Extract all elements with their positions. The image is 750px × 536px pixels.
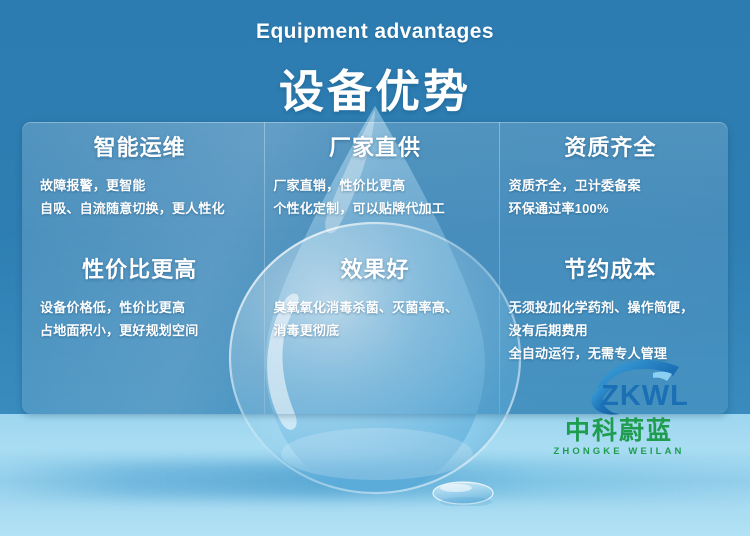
advantage-block-smart-ops: 智能运维 故障报警，更智能 自吸、自流随意切换，更人性化 [22,136,257,220]
company-name-english: ZHONGKE WEILAN [549,445,689,458]
advantage-title: 性价比更高 [38,258,241,282]
advantage-line: 全自动运行，无需专人管理 [509,342,712,365]
advantage-line: 臭氧氧化消毒杀菌、灭菌率高、 [273,296,476,319]
advantage-title: 资质齐全 [509,136,712,160]
advantage-line: 自吸、自流随意切换，更人性化 [40,197,241,220]
advantage-line: 消毒更彻底 [273,319,476,342]
company-name-chinese: 中科蔚蓝 [549,418,689,445]
advantage-block-good-effect: 效果好 臭氧氧化消毒杀菌、灭菌率高、 消毒更彻底 [257,258,492,342]
advantage-line: 无须投加化学药剂、操作简便， [509,296,712,319]
advantage-line: 没有后期费用 [509,319,712,342]
advantage-column-2: 厂家直供 厂家直销，性价比更高 个性化定制，可以贴牌代加工 效果好 臭氧氧化消毒… [257,122,492,414]
advantage-title: 厂家直供 [273,136,476,160]
advantage-block-factory-direct: 厂家直供 厂家直销，性价比更高 个性化定制，可以贴牌代加工 [257,136,492,220]
advantage-title: 智能运维 [38,136,241,160]
advantage-block-qualifications: 资质齐全 资质齐全，卫计委备案 环保通过率100% [493,136,728,220]
advantage-title: 效果好 [273,258,476,282]
advantage-line: 厂家直销，性价比更高 [273,174,476,197]
advantage-line: 占地面积小，更好规划空间 [40,319,241,342]
page-title-chinese: 设备优势 [0,55,750,120]
advantage-column-1: 智能运维 故障报警，更智能 自吸、自流随意切换，更人性化 性价比更高 设备价格低… [22,122,257,414]
company-name-block: 中科蔚蓝 ZHONGKE WEILAN [549,418,689,462]
advantage-line: 资质齐全，卫计委备案 [509,174,712,197]
advantage-line: 故障报警，更智能 [40,174,241,197]
poster-canvas: Equipment advantages 设备优势 智能运维 故障报警，更智能 … [0,0,750,536]
advantage-line: 个性化定制，可以贴牌代加工 [273,197,476,220]
advantages-card: 智能运维 故障报警，更智能 自吸、自流随意切换，更人性化 性价比更高 设备价格低… [22,122,728,414]
advantage-title: 节约成本 [509,258,712,282]
advantage-line: 设备价格低，性价比更高 [40,296,241,319]
advantages-columns: 智能运维 故障报警，更智能 自吸、自流随意切换，更人性化 性价比更高 设备价格低… [22,122,728,414]
page-title-english: Equipment advantages [0,20,750,44]
advantage-column-3: 资质齐全 资质齐全，卫计委备案 环保通过率100% 节约成本 无须投加化学药剂、… [493,122,728,414]
advantage-block-cost-performance: 性价比更高 设备价格低，性价比更高 占地面积小，更好规划空间 [22,258,257,342]
advantage-line: 环保通过率100% [509,197,712,220]
advantage-block-save-cost: 节约成本 无须投加化学药剂、操作简便， 没有后期费用 全自动运行，无需专人管理 [493,258,728,365]
